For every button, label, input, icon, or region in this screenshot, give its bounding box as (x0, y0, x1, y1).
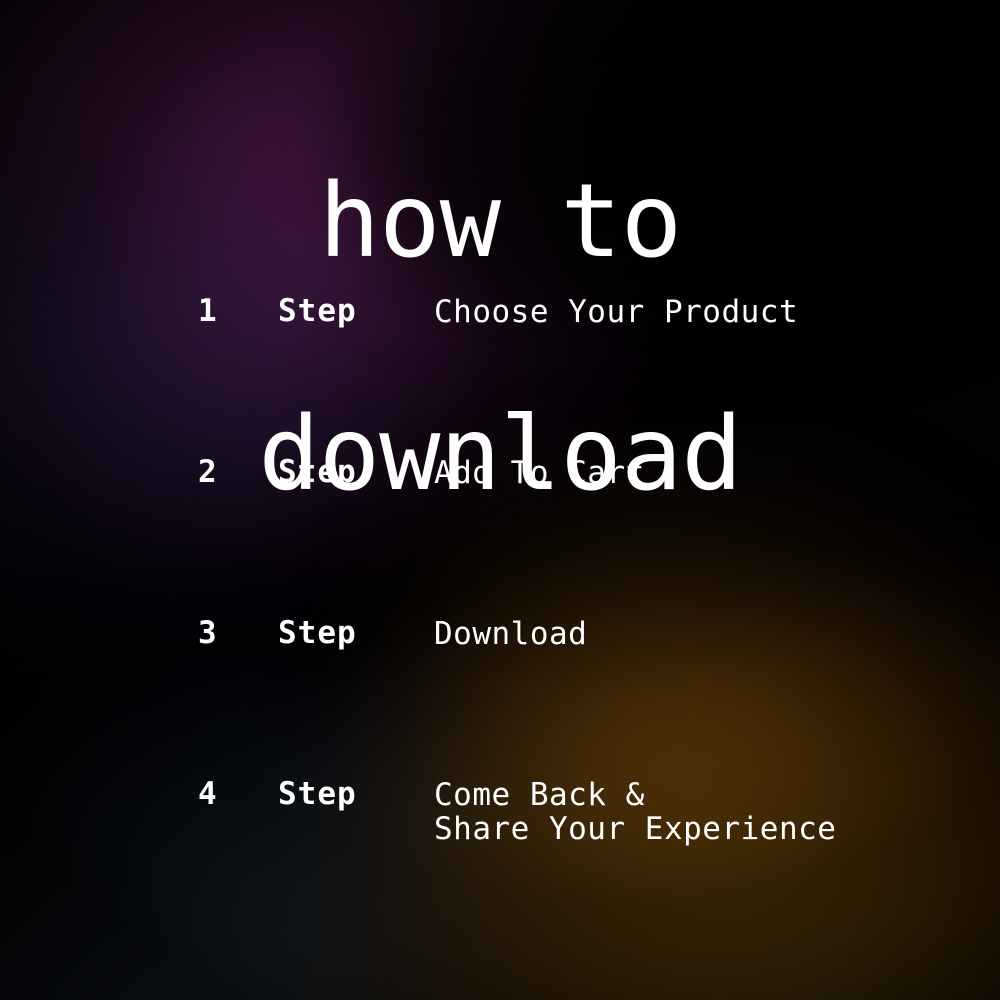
step-description: Choose Your Product (434, 295, 798, 329)
step-number: 3 (198, 618, 217, 649)
title-line-1: how to (0, 183, 1000, 261)
step-word-label: Step (278, 618, 357, 649)
step-description: Add To Cart (434, 456, 645, 490)
step-word-label: Step (278, 779, 357, 810)
step-row: 1 Step Choose Your Product (0, 296, 1000, 457)
step-row: 2 Step Add To Cart (0, 457, 1000, 618)
step-word-label: Step (278, 296, 357, 327)
poster-content: how to download 1 Step Choose Your Produ… (0, 0, 1000, 1000)
step-number: 1 (198, 296, 217, 327)
step-word-label: Step (278, 457, 357, 488)
step-row: 3 Step Download (0, 618, 1000, 779)
step-number: 4 (198, 779, 217, 810)
steps-list: 1 Step Choose Your Product 2 Step Add To… (0, 296, 1000, 940)
step-row: 4 Step Come Back & Share Your Experience (0, 779, 1000, 940)
step-description: Come Back & Share Your Experience (434, 778, 836, 846)
step-number: 2 (198, 457, 217, 488)
step-description: Download (434, 617, 587, 651)
poster-canvas: how to download 1 Step Choose Your Produ… (0, 0, 1000, 1000)
